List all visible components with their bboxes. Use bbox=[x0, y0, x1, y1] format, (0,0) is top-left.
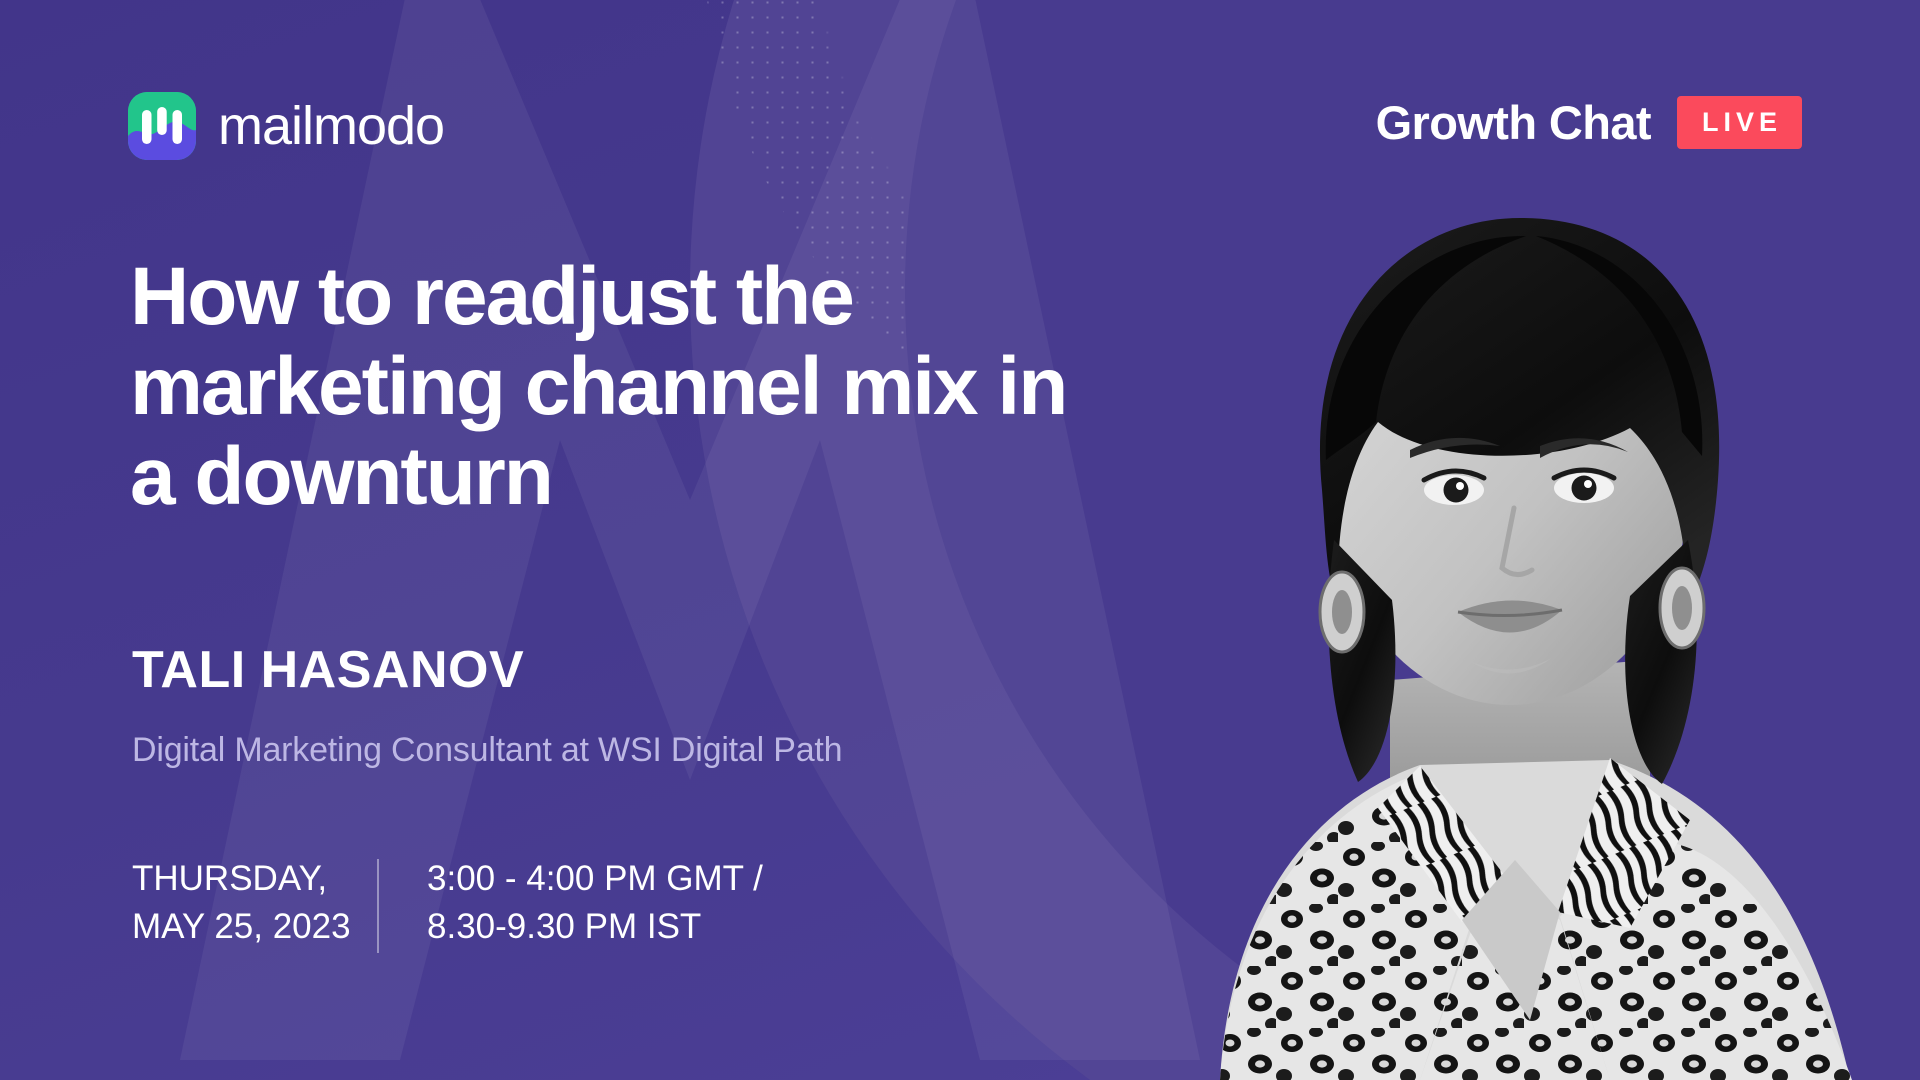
webinar-date: THURSDAY, MAY 25, 2023 bbox=[132, 855, 357, 950]
webinar-promo-banner: mailmodo Growth Chat LIVE How to readjus… bbox=[0, 0, 1920, 1080]
webinar-time-line-2: 8.30-9.30 PM IST bbox=[427, 903, 763, 951]
mailmodo-wordmark: mailmodo bbox=[218, 99, 444, 153]
speaker-role: Digital Marketing Consultant at WSI Digi… bbox=[132, 733, 842, 767]
growth-chat-title: Growth Chat bbox=[1376, 99, 1651, 146]
speaker-name: TALI HASANOV bbox=[132, 644, 524, 696]
webinar-time: 3:00 - 4:00 PM GMT / 8.30-9.30 PM IST bbox=[427, 855, 763, 950]
webinar-headline: How to readjust the marketing channel mi… bbox=[130, 252, 1090, 523]
vertical-divider bbox=[377, 859, 379, 953]
live-badge: LIVE bbox=[1677, 96, 1802, 149]
growth-chat-badge-group: Growth Chat LIVE bbox=[1376, 96, 1802, 149]
webinar-date-line-2: MAY 25, 2023 bbox=[132, 903, 357, 951]
mailmodo-logo[interactable]: mailmodo bbox=[128, 92, 444, 160]
date-time-block: THURSDAY, MAY 25, 2023 3:00 - 4:00 PM GM… bbox=[132, 855, 763, 953]
webinar-time-line-1: 3:00 - 4:00 PM GMT / bbox=[427, 855, 763, 903]
speaker-photo bbox=[1090, 160, 1920, 1080]
mailmodo-logo-icon bbox=[128, 92, 196, 160]
webinar-date-line-1: THURSDAY, bbox=[132, 855, 357, 903]
